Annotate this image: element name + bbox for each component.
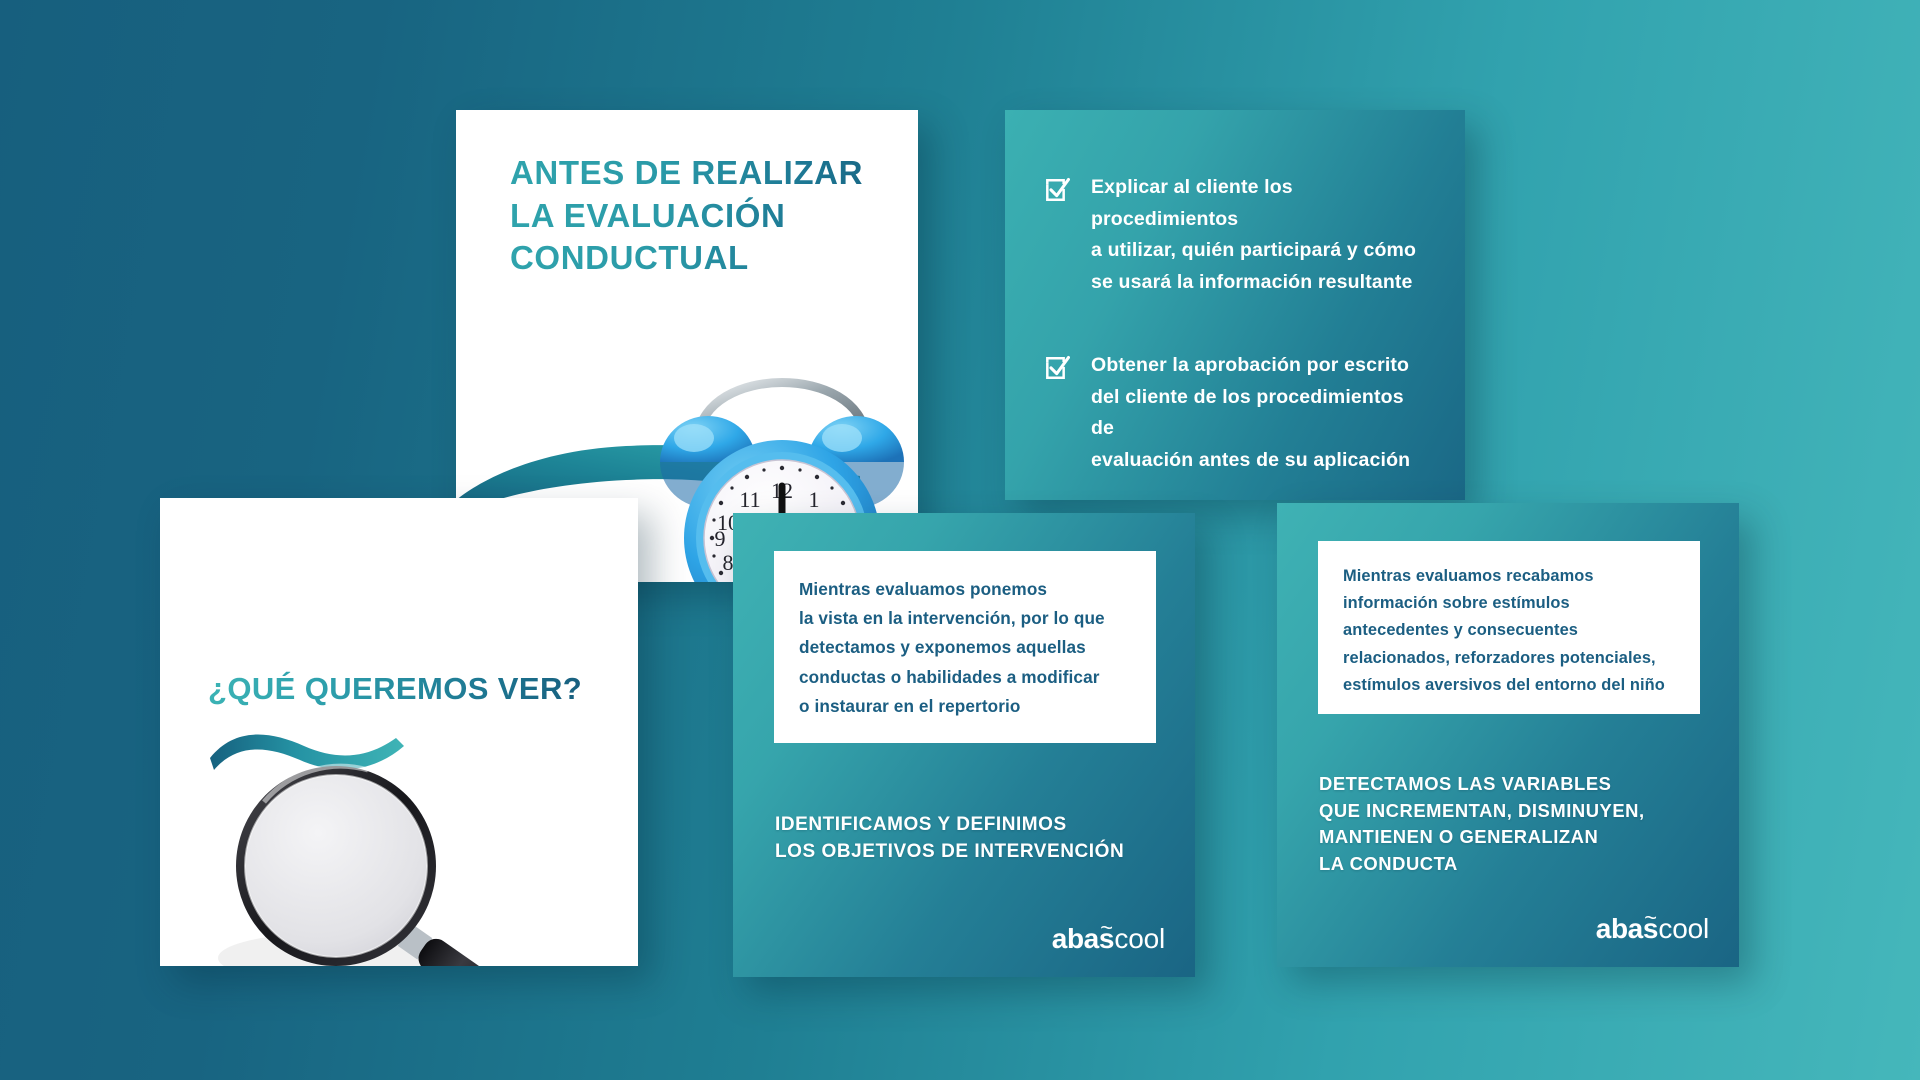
checkbox-checked-icon	[1045, 355, 1070, 380]
checklist-item-text: Explicar al cliente los procedimientos a…	[1091, 172, 1431, 298]
brand-logo-s: ~s	[1643, 915, 1659, 943]
slide-canvas: ANTES DE REALIZAR LA EVALUACIÓN CONDUCTU…	[0, 0, 1920, 1080]
checklist-item[interactable]: Explicar al cliente los procedimientos a…	[1045, 172, 1431, 298]
variables-body: Mientras evaluamos recabamos información…	[1343, 563, 1684, 699]
brand-logo-bold: aba	[1052, 925, 1099, 953]
variables-card[interactable]: Mientras evaluamos recabamos información…	[1277, 503, 1739, 967]
brand-logo: aba~scool	[1052, 925, 1165, 953]
magnifying-glass-icon	[218, 748, 588, 966]
checklist: Explicar al cliente los procedimientos a…	[1045, 172, 1431, 529]
brand-logo: aba~scool	[1596, 915, 1709, 943]
brand-logo-tilde: ~	[1644, 907, 1657, 929]
objectives-caption: IDENTIFICAMOS Y DEFINIMOS LOS OBJETIVOS …	[775, 811, 1171, 866]
objectives-text-box: Mientras evaluamos ponemos la vista en l…	[774, 551, 1156, 743]
brand-logo-bold: aba	[1596, 915, 1643, 943]
variables-text-box: Mientras evaluamos recabamos información…	[1318, 541, 1700, 714]
checklist-item-text: Obtener la aprobación por escrito del cl…	[1091, 350, 1431, 476]
objectives-body: Mientras evaluamos ponemos la vista en l…	[799, 575, 1140, 721]
brand-logo-tilde: ~	[1100, 917, 1113, 939]
checklist-card[interactable]: Explicar al cliente los procedimientos a…	[1005, 110, 1465, 500]
svg-text:11: 11	[739, 487, 760, 512]
variables-caption: DETECTAMOS LAS VARIABLES QUE INCREMENTAN…	[1319, 771, 1715, 877]
title-card-heading: ANTES DE REALIZAR LA EVALUACIÓN CONDUCTU…	[510, 152, 900, 280]
objectives-card[interactable]: Mientras evaluamos ponemos la vista en l…	[733, 513, 1195, 977]
question-card-heading: ¿QUÉ QUEREMOS VER?	[208, 671, 608, 707]
checkbox-checked-icon	[1045, 177, 1070, 202]
checklist-item[interactable]: Obtener la aprobación por escrito del cl…	[1045, 350, 1431, 476]
svg-text:1: 1	[809, 487, 820, 512]
svg-text:8: 8	[723, 550, 734, 575]
brand-logo-rest: cool	[1658, 915, 1709, 943]
brand-logo-rest: cool	[1114, 925, 1165, 953]
brand-logo-s: ~s	[1099, 925, 1115, 953]
question-card[interactable]: ¿QUÉ QUEREMOS VER?	[160, 498, 638, 966]
